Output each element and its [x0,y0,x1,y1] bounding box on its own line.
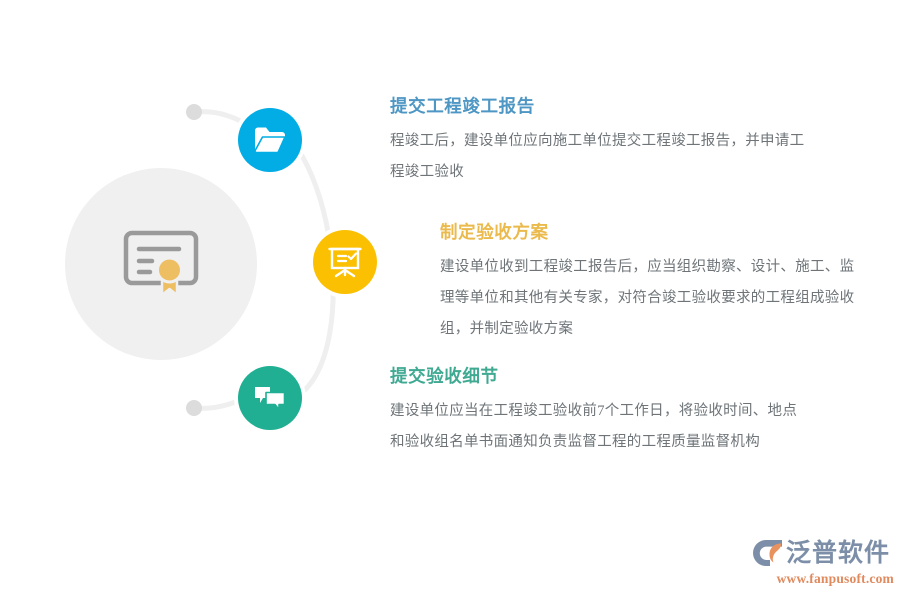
step-title-3: 提交验收细节 [390,366,810,387]
step-body-2: 建设单位收到工程竣工报告后，应当组织勘察、设计、施工、监理等单位和其他有关专家，… [440,252,860,345]
brand-logo: 泛普软件 www.fanpusoft.com [752,536,894,590]
infographic-canvas: 提交工程竣工报告 程竣工后，建设单位应向施工单位提交工程竣工报告，并申请工程竣工… [0,0,900,600]
certificate-icon [122,228,200,298]
chat-bubbles-icon [253,384,287,412]
step-body-3: 建设单位应当在工程竣工验收前7个工作日，将验收时间、地点和验收组名单书面通知负责… [390,396,810,458]
connector-arc [0,0,400,600]
step-title-1: 提交工程竣工报告 [390,96,810,117]
folder-icon [253,125,287,155]
step-block-1: 提交工程竣工报告 程竣工后，建设单位应向施工单位提交工程竣工报告，并申请工程竣工… [390,96,810,188]
process-graphic [0,0,400,600]
step-title-2: 制定验收方案 [440,222,860,243]
step-block-3: 提交验收细节 建设单位应当在工程竣工验收前7个工作日，将验收时间、地点和验收组名… [390,366,810,458]
step-body-1: 程竣工后，建设单位应向施工单位提交工程竣工报告，并申请工程竣工验收 [390,126,810,188]
step-node-2[interactable] [313,230,377,294]
connector-dot-top [186,104,202,120]
logo-lockup: 泛普软件 [752,536,894,570]
step-block-2: 制定验收方案 建设单位收到工程竣工报告后，应当组织勘察、设计、施工、监理等单位和… [440,222,860,345]
logo-brand-text: 泛普软件 [786,541,890,566]
presentation-board-icon [328,246,362,278]
fanpu-mark-icon [752,537,786,569]
step-node-1[interactable] [238,108,302,172]
connector-dot-bottom [186,400,202,416]
step-node-3[interactable] [238,366,302,430]
logo-url-text: www.fanpusoft.com [752,571,894,587]
